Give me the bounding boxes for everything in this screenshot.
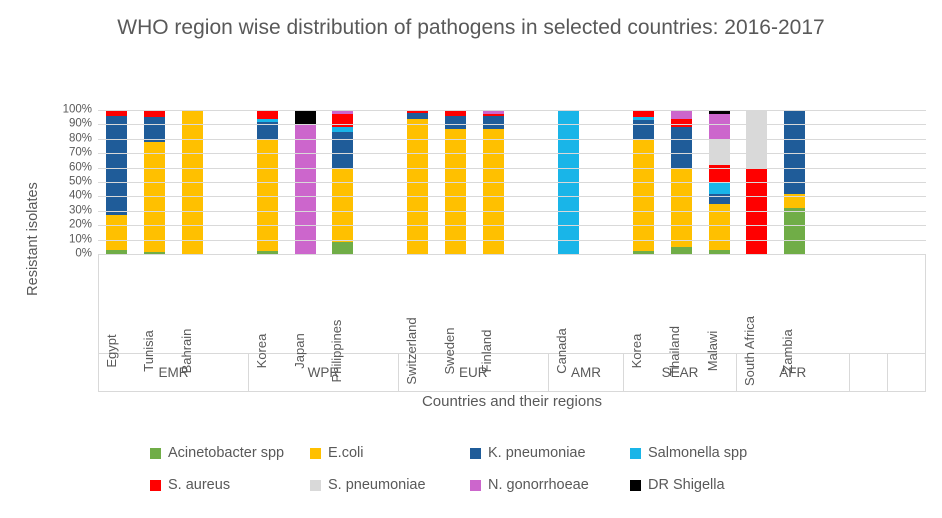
y-axis-ticks: 100%90%80%70%60%50%40%30%20%10%0% xyxy=(52,110,94,260)
bar-segment[interactable] xyxy=(106,116,127,215)
gridline xyxy=(98,153,926,154)
region-label-cell: AMR xyxy=(549,354,624,391)
bar-segment[interactable] xyxy=(633,120,654,139)
bar-segment[interactable] xyxy=(257,110,278,119)
category-cell: Thailand xyxy=(662,255,700,353)
legend-label: E.coli xyxy=(328,445,363,461)
chart-title: WHO region wise distribution of pathogen… xyxy=(100,14,842,42)
legend-item[interactable]: S. aureus xyxy=(150,477,310,493)
bar-segment[interactable] xyxy=(671,127,692,167)
gridline xyxy=(98,139,926,140)
category-cell: Switzerland xyxy=(399,255,437,353)
gridline xyxy=(98,124,926,125)
region-label-cell xyxy=(850,354,888,391)
y-axis-title-wrap: Resistant isolates xyxy=(6,120,30,270)
bar-segment[interactable] xyxy=(106,215,127,250)
y-axis-tick-label: 40% xyxy=(69,191,92,203)
category-cell: Malawi xyxy=(700,255,738,353)
bar-segment[interactable] xyxy=(709,182,730,194)
legend-swatch-icon xyxy=(630,448,641,459)
category-label-band: EgyptTunisiaBahrainKoreaJapanPhilippines… xyxy=(98,254,926,354)
legend-item[interactable]: DR Shigella xyxy=(630,477,790,493)
chart-container: WHO region wise distribution of pathogen… xyxy=(0,0,942,518)
bar-segment[interactable] xyxy=(295,124,316,254)
legend-item[interactable]: E.coli xyxy=(310,445,470,461)
legend-swatch-icon xyxy=(150,448,161,459)
y-axis-tick-label: 60% xyxy=(69,162,92,174)
category-cell xyxy=(850,255,888,353)
gridline xyxy=(98,225,926,226)
category-cell: Korea xyxy=(249,255,287,353)
legend-swatch-icon xyxy=(470,480,481,491)
gridline xyxy=(98,110,926,111)
category-cell: Bahrain xyxy=(174,255,212,353)
legend-label: K. pneumoniae xyxy=(488,445,586,461)
plot-wrap: 100%90%80%70%60%50%40%30%20%10%0% xyxy=(52,110,930,260)
bar-segment[interactable] xyxy=(784,110,805,194)
bar-segment[interactable] xyxy=(709,139,730,165)
category-cell: Tunisia xyxy=(137,255,175,353)
legend-label: DR Shigella xyxy=(648,477,725,493)
y-axis-tick-label: 100% xyxy=(63,104,92,116)
y-axis-tick-label: 70% xyxy=(69,147,92,159)
region-label-cell: EUR xyxy=(399,354,549,391)
gridline xyxy=(98,211,926,212)
bar-segment[interactable] xyxy=(671,247,692,254)
legend-item[interactable]: Salmonella spp xyxy=(630,445,790,461)
region-label-cell: EMR xyxy=(99,354,249,391)
y-axis-tick-label: 80% xyxy=(69,133,92,145)
gridline xyxy=(98,196,926,197)
category-cell: Egypt xyxy=(99,255,137,353)
region-label-cell: WPR xyxy=(249,354,399,391)
category-cell xyxy=(212,255,250,353)
legend-label: N. gonorrhoeae xyxy=(488,477,589,493)
legend-swatch-icon xyxy=(150,480,161,491)
plot-area xyxy=(98,110,926,255)
bar-segment[interactable] xyxy=(332,168,353,243)
legend-swatch-icon xyxy=(470,448,481,459)
bar-segment[interactable] xyxy=(709,114,730,138)
y-axis-tick-label: 50% xyxy=(69,176,92,188)
legend-swatch-icon xyxy=(310,480,321,491)
category-cell xyxy=(362,255,400,353)
bar-segment[interactable] xyxy=(784,208,805,254)
bar-segment[interactable] xyxy=(295,110,316,124)
category-cell xyxy=(512,255,550,353)
category-cell: Sweden xyxy=(437,255,475,353)
bar-segment[interactable] xyxy=(671,168,692,247)
legend-item[interactable]: Acinetobacter spp xyxy=(150,445,310,461)
category-cell: South Africa xyxy=(737,255,775,353)
gridline xyxy=(98,240,926,241)
category-cell: Zambia xyxy=(775,255,813,353)
y-axis-tick-label: 90% xyxy=(69,119,92,131)
category-cell xyxy=(812,255,850,353)
region-label-cell: AFR xyxy=(737,354,850,391)
bar-segment[interactable] xyxy=(332,132,353,168)
y-axis-tick-label: 10% xyxy=(69,234,92,246)
bar-segment[interactable] xyxy=(332,242,353,254)
category-cell: Philippines xyxy=(324,255,362,353)
y-axis-tick-label: 0% xyxy=(75,248,92,260)
category-cell: Finland xyxy=(474,255,512,353)
bar-segment[interactable] xyxy=(671,119,692,128)
legend-label: Acinetobacter spp xyxy=(168,445,284,461)
legend-item[interactable]: K. pneumoniae xyxy=(470,445,630,461)
bar-segment[interactable] xyxy=(483,116,504,129)
bar-segment[interactable] xyxy=(483,129,504,254)
region-label-cell: SEAR xyxy=(624,354,737,391)
chart-legend: Acinetobacter sppE.coliK. pneumoniaeSalm… xyxy=(150,445,790,493)
region-label-cell xyxy=(888,354,925,391)
category-cell: Japan xyxy=(287,255,325,353)
legend-item[interactable]: N. gonorrhoeae xyxy=(470,477,630,493)
bar-segment[interactable] xyxy=(445,129,466,254)
legend-item[interactable]: S. pneumoniae xyxy=(310,477,470,493)
bar-segment[interactable] xyxy=(257,139,278,251)
legend-swatch-icon xyxy=(310,448,321,459)
legend-swatch-icon xyxy=(630,480,641,491)
bar-segment[interactable] xyxy=(445,116,466,129)
legend-label: Salmonella spp xyxy=(648,445,747,461)
y-axis-tick-label: 20% xyxy=(69,219,92,231)
bar-segment[interactable] xyxy=(671,110,692,119)
gridline xyxy=(98,168,926,169)
region-label-band: EMRWPREURAMRSEARAFR xyxy=(98,354,926,392)
bar-segment[interactable] xyxy=(633,139,654,251)
bar-segment[interactable] xyxy=(633,110,654,117)
category-cell xyxy=(587,255,625,353)
category-cell xyxy=(887,255,925,353)
bar-segment[interactable] xyxy=(709,194,730,204)
y-axis-title: Resistant isolates xyxy=(25,159,43,319)
x-axis-title: Countries and their regions xyxy=(98,393,926,410)
category-cell: Canada xyxy=(550,255,588,353)
category-cell: Korea xyxy=(625,255,663,353)
legend-label: S. pneumoniae xyxy=(328,477,426,493)
y-axis-tick-label: 30% xyxy=(69,205,92,217)
gridline xyxy=(98,182,926,183)
legend-label: S. aureus xyxy=(168,477,230,493)
